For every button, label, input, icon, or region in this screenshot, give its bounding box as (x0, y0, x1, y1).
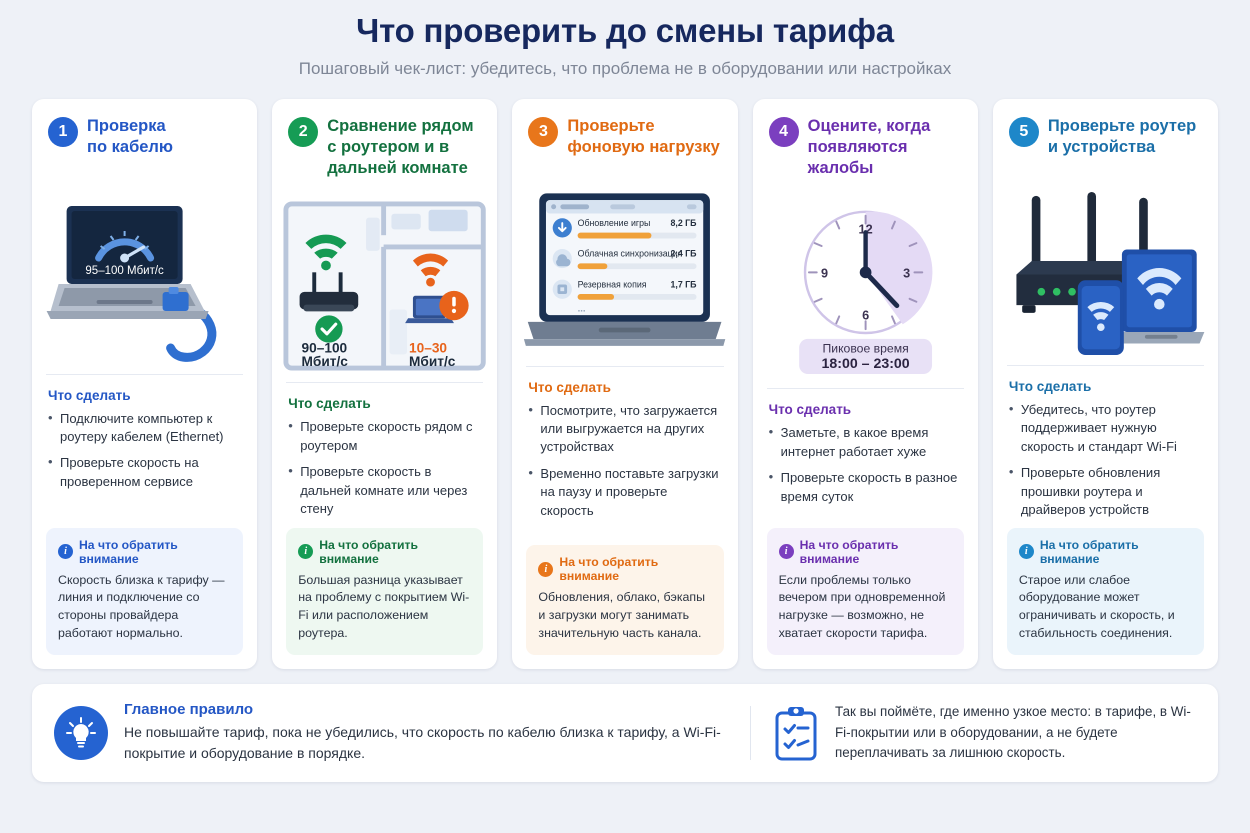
step-number-badge-2: 2 (288, 117, 318, 147)
note-box-2: i На что обратить внимание Большая разни… (286, 528, 483, 655)
page-subtitle: Пошаговый чек-лист: убедитесь, что пробл… (32, 59, 1218, 79)
step-number-badge-5: 5 (1009, 117, 1039, 147)
note-title-1: На что обратить внимание (79, 538, 231, 566)
card-5-title: Проверьте роутер и устройства (1048, 116, 1196, 158)
info-icon: i (298, 544, 313, 559)
todo-item: Посмотрите, что загружается или выгружае… (528, 402, 721, 457)
main-rule-text: Не повышайте тариф, пока не убедились, ч… (124, 722, 744, 764)
note-header-5: i На что обратить внимание (1019, 538, 1192, 566)
card-2-title: Сравнение рядом с роутером и в дальней к… (327, 116, 473, 178)
note-box-3: i На что обратить внимание Обновления, о… (526, 545, 723, 655)
main-rule-block: Главное правило Не повышайте тариф, пока… (54, 701, 744, 764)
note-header-4: i На что обратить внимание (779, 538, 952, 566)
todo-label-1: Что сделать (48, 388, 241, 403)
footer-panel: Главное правило Не повышайте тариф, пока… (32, 684, 1218, 782)
info-icon: i (538, 562, 553, 577)
card-step-2: 2 Сравнение рядом с роутером и в дальней… (272, 99, 497, 669)
todo-item: Проверьте скорость в дальней комнате или… (288, 463, 481, 518)
info-icon: i (1019, 544, 1034, 559)
download-name: Облачная синхронизация (578, 248, 683, 258)
download-size: 1,7 ГБ (671, 279, 698, 289)
card-1-title: Проверка по кабелю (87, 116, 173, 158)
page-title: Что проверить до смены тарифа (32, 12, 1218, 50)
illustration-laptop-downloads: Обновление игры 8,2 ГБ Облачная синхрони… (522, 186, 727, 358)
card-step-3: 3 Проверьте фоновую нагрузку Обновление … (512, 99, 737, 669)
todo-item: Временно поставьте загрузки на паузу и п… (528, 465, 721, 520)
note-text-5: Старое или слабое оборудование может огр… (1019, 572, 1192, 643)
svg-text:Мбит/с: Мбит/с (302, 354, 349, 369)
note-box-4: i На что обратить внимание Если проблемы… (767, 528, 964, 655)
todo-label-3: Что сделать (528, 380, 721, 395)
info-icon: i (779, 544, 794, 559)
peak-label: Пиковое время (822, 342, 908, 356)
card-5-body: Что сделать Убедитесь, что роутер поддер… (993, 366, 1218, 528)
card-3-header: 3 Проверьте фоновую нагрузку (512, 99, 737, 166)
note-header-2: i На что обратить внимание (298, 538, 471, 566)
step-number-badge-3: 3 (528, 117, 558, 147)
note-text-4: Если проблемы только вечером при одновре… (779, 572, 952, 643)
clock-mark-9: 9 (821, 267, 828, 281)
svg-text:Мбит/с: Мбит/с (409, 354, 456, 369)
todo-list-4: Заметьте, в какое время интернет работае… (769, 424, 962, 514)
todo-list-2: Проверьте скорость рядом с роутером Пров… (288, 418, 481, 526)
footer-divider (750, 706, 751, 760)
todo-item: Убедитесь, что роутер поддерживает нужну… (1009, 401, 1202, 456)
note-header-1: i На что обратить внимание (58, 538, 231, 566)
main-rule-text-group: Главное правило Не повышайте тариф, пока… (124, 701, 744, 764)
todo-item: Заметьте, в какое время интернет работае… (769, 424, 962, 461)
download-size: 2,4 ГБ (671, 248, 698, 258)
main-rule-title: Главное правило (124, 701, 744, 718)
download-name: Резервная копия (578, 279, 647, 289)
note-text-1: Скорость близка к тарифу — линия и подкл… (58, 572, 231, 643)
note-title-5: На что обратить внимание (1040, 538, 1192, 566)
note-text-2: Большая разница указывает на проблему с … (298, 572, 471, 643)
download-size: 8,2 ГБ (671, 217, 698, 227)
todo-item: Подключите компьютер к роутеру кабелем (… (48, 410, 241, 447)
illustration-clock-peak: 12 3 6 9 Пиковое время 18:00 – 23:00 (763, 200, 968, 380)
card-5-header: 5 Проверьте роутер и устройства (993, 99, 1218, 166)
card-3-title: Проверьте фоновую нагрузку (567, 116, 719, 158)
card-3-body: Что сделать Посмотрите, что загружается … (512, 367, 737, 546)
card-step-5: 5 Проверьте роутер и устройства (993, 99, 1218, 669)
illustration-router-devices (1003, 184, 1208, 357)
note-text-3: Обновления, облако, бэкапы и загрузки мо… (538, 589, 711, 643)
todo-label-2: Что сделать (288, 396, 481, 411)
step-number-badge-1: 1 (48, 117, 78, 147)
note-box-5: i На что обратить внимание Старое или сл… (1007, 528, 1204, 655)
card-2-body: Что сделать Проверьте скорость рядом с р… (272, 383, 497, 527)
summary-text: Так вы поймёте, где именно узкое место: … (835, 702, 1196, 764)
todo-label-5: Что сделать (1009, 379, 1202, 394)
header: Что проверить до смены тарифа Пошаговый … (32, 0, 1218, 79)
card-1-body: Что сделать Подключите компьютер к роуте… (32, 375, 257, 528)
clock-mark-6: 6 (862, 309, 869, 323)
speed-label: 95–100 Мбит/с (85, 265, 164, 277)
note-title-4: На что обратить внимание (800, 538, 952, 566)
summary-block: Так вы поймёте, где именно узкое место: … (773, 702, 1196, 764)
todo-item: Проверьте скорость рядом с роутером (288, 418, 481, 455)
infographic-page: Что проверить до смены тарифа Пошаговый … (0, 0, 1250, 833)
illustration-laptop-speedometer: 95–100 Мбит/с (42, 170, 247, 366)
peak-value: 18:00 – 23:00 (821, 356, 909, 372)
todo-item: Проверьте скорость на проверенном сервис… (48, 454, 241, 491)
downloads-more: ... (578, 303, 586, 314)
lightbulb-icon (54, 706, 108, 760)
note-title-2: На что обратить внимание (319, 538, 471, 566)
todo-item: Проверьте скорость в разное время суток (769, 469, 962, 506)
checklist-cards: 1 Проверка по кабелю (32, 99, 1218, 669)
note-title-3: На что обратить внимание (559, 555, 711, 583)
card-4-body: Что сделать Заметьте, в какое время инте… (753, 389, 978, 527)
illustration-floorplan-wifi: 90–100 Мбит/с 10–30 Мбит/с (282, 198, 487, 374)
note-box-1: i На что обратить внимание Скорость близ… (46, 528, 243, 655)
card-step-4: 4 Оцените, когда появляются жалобы (753, 99, 978, 669)
todo-list-5: Убедитесь, что роутер поддерживает нужну… (1009, 401, 1202, 528)
card-4-title: Оцените, когда появляются жалобы (808, 116, 964, 178)
clipboard-checklist-icon (773, 705, 819, 761)
note-header-3: i На что обратить внимание (538, 555, 711, 583)
card-1-header: 1 Проверка по кабелю (32, 99, 257, 166)
info-icon: i (58, 544, 73, 559)
todo-list-1: Подключите компьютер к роутеру кабелем (… (48, 410, 241, 500)
card-step-1: 1 Проверка по кабелю (32, 99, 257, 669)
download-name: Обновление игры (578, 217, 651, 227)
todo-list-3: Посмотрите, что загружается или выгружае… (528, 402, 721, 529)
step-number-badge-4: 4 (769, 117, 799, 147)
card-4-header: 4 Оцените, когда появляются жалобы (753, 99, 978, 186)
card-2-header: 2 Сравнение рядом с роутером и в дальней… (272, 99, 497, 186)
todo-item: Проверьте обновления прошивки роутера и … (1009, 464, 1202, 519)
clock-mark-3: 3 (903, 267, 910, 281)
todo-label-4: Что сделать (769, 402, 962, 417)
